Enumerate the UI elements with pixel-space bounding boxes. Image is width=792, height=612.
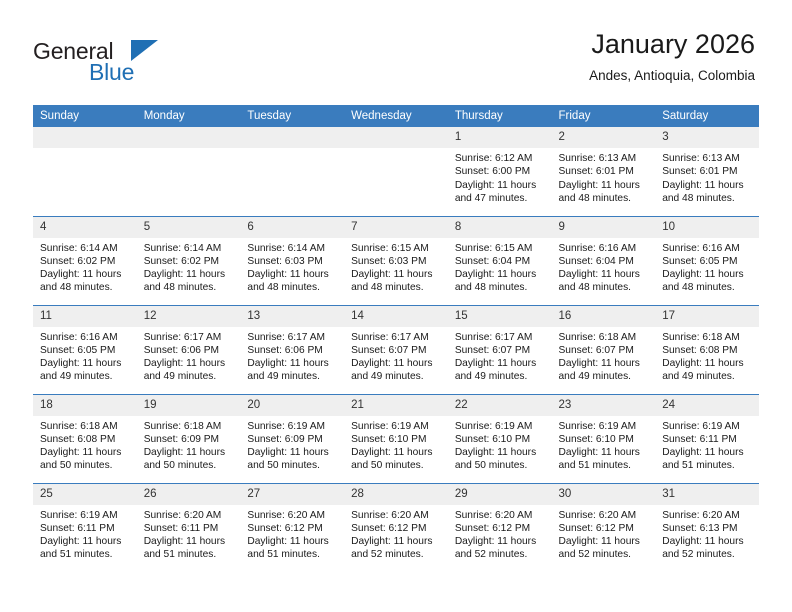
day-cell-empty [240, 127, 344, 216]
daylight-text-line1: Daylight: 11 hours [455, 535, 546, 548]
day-cell[interactable]: 16 Sunrise: 6:18 AM Sunset: 6:07 PM Dayl… [552, 305, 656, 394]
day-number: 18 [33, 395, 137, 416]
sunrise-text: Sunrise: 6:18 AM [40, 420, 131, 433]
day-details: Sunrise: 6:14 AM Sunset: 6:02 PM Dayligh… [33, 238, 137, 295]
sunset-text: Sunset: 6:11 PM [144, 522, 235, 535]
day-number: 30 [552, 484, 656, 505]
daylight-text-line2: and 52 minutes. [351, 548, 442, 561]
daylight-text-line2: and 49 minutes. [40, 370, 131, 383]
day-details: Sunrise: 6:20 AM Sunset: 6:12 PM Dayligh… [552, 505, 656, 562]
day-cell[interactable]: 2 Sunrise: 6:13 AM Sunset: 6:01 PM Dayli… [552, 127, 656, 216]
daylight-text-line2: and 49 minutes. [559, 370, 650, 383]
day-details: Sunrise: 6:13 AM Sunset: 6:01 PM Dayligh… [552, 148, 656, 205]
day-cell[interactable]: 15 Sunrise: 6:17 AM Sunset: 6:07 PM Dayl… [448, 305, 552, 394]
daylight-text-line1: Daylight: 11 hours [40, 268, 131, 281]
day-details: Sunrise: 6:19 AM Sunset: 6:10 PM Dayligh… [552, 416, 656, 473]
sunrise-text: Sunrise: 6:13 AM [662, 152, 753, 165]
sunrise-text: Sunrise: 6:19 AM [351, 420, 442, 433]
daylight-text-line2: and 48 minutes. [662, 281, 753, 294]
daylight-text-line2: and 49 minutes. [144, 370, 235, 383]
daylight-text-line2: and 48 minutes. [351, 281, 442, 294]
daylight-text-line2: and 48 minutes. [559, 192, 650, 205]
sunrise-text: Sunrise: 6:17 AM [247, 331, 338, 344]
day-number: 4 [33, 217, 137, 238]
day-cell[interactable]: 12 Sunrise: 6:17 AM Sunset: 6:06 PM Dayl… [137, 305, 241, 394]
daylight-text-line1: Daylight: 11 hours [247, 357, 338, 370]
page-title: January 2026 [589, 28, 755, 60]
daylight-text-line2: and 50 minutes. [40, 459, 131, 472]
sunset-text: Sunset: 6:12 PM [559, 522, 650, 535]
day-details: Sunrise: 6:19 AM Sunset: 6:11 PM Dayligh… [655, 416, 759, 473]
day-number: 31 [655, 484, 759, 505]
sunset-text: Sunset: 6:03 PM [351, 255, 442, 268]
day-cell-empty [137, 127, 241, 216]
week-row: 1 Sunrise: 6:12 AM Sunset: 6:00 PM Dayli… [33, 127, 759, 216]
daylight-text-line1: Daylight: 11 hours [455, 179, 546, 192]
day-number: 16 [552, 306, 656, 327]
day-cell[interactable]: 22 Sunrise: 6:19 AM Sunset: 6:10 PM Dayl… [448, 394, 552, 483]
day-cell[interactable]: 29 Sunrise: 6:20 AM Sunset: 6:12 PM Dayl… [448, 483, 552, 572]
sunrise-text: Sunrise: 6:17 AM [144, 331, 235, 344]
day-details: Sunrise: 6:17 AM Sunset: 6:07 PM Dayligh… [344, 327, 448, 384]
daylight-text-line1: Daylight: 11 hours [559, 446, 650, 459]
sunset-text: Sunset: 6:11 PM [40, 522, 131, 535]
sunrise-text: Sunrise: 6:18 AM [559, 331, 650, 344]
day-details: Sunrise: 6:15 AM Sunset: 6:03 PM Dayligh… [344, 238, 448, 295]
sunset-text: Sunset: 6:03 PM [247, 255, 338, 268]
day-details: Sunrise: 6:17 AM Sunset: 6:06 PM Dayligh… [137, 327, 241, 384]
sunrise-text: Sunrise: 6:15 AM [455, 242, 546, 255]
sunset-text: Sunset: 6:01 PM [662, 165, 753, 178]
day-details: Sunrise: 6:18 AM Sunset: 6:07 PM Dayligh… [552, 327, 656, 384]
sunrise-text: Sunrise: 6:17 AM [351, 331, 442, 344]
sunrise-text: Sunrise: 6:14 AM [144, 242, 235, 255]
sunset-text: Sunset: 6:04 PM [455, 255, 546, 268]
weekday-header-row: Sunday Monday Tuesday Wednesday Thursday… [33, 105, 759, 127]
daylight-text-line1: Daylight: 11 hours [144, 446, 235, 459]
day-number: 6 [240, 217, 344, 238]
sunrise-text: Sunrise: 6:16 AM [40, 331, 131, 344]
sunrise-text: Sunrise: 6:19 AM [662, 420, 753, 433]
sunrise-text: Sunrise: 6:19 AM [247, 420, 338, 433]
day-number: 15 [448, 306, 552, 327]
day-number: 11 [33, 306, 137, 327]
page-header: General Blue January 2026 Andes, Antioqu… [0, 0, 792, 104]
day-number: 21 [344, 395, 448, 416]
weekday-header-tuesday: Tuesday [240, 105, 344, 127]
day-cell[interactable]: 27 Sunrise: 6:20 AM Sunset: 6:12 PM Dayl… [240, 483, 344, 572]
daylight-text-line1: Daylight: 11 hours [144, 357, 235, 370]
daylight-text-line1: Daylight: 11 hours [144, 268, 235, 281]
daylight-text-line2: and 48 minutes. [40, 281, 131, 294]
day-cell[interactable]: 25 Sunrise: 6:19 AM Sunset: 6:11 PM Dayl… [33, 483, 137, 572]
day-number: 10 [655, 217, 759, 238]
logo-triangle-icon [131, 40, 158, 61]
sunrise-text: Sunrise: 6:16 AM [559, 242, 650, 255]
day-cell[interactable]: 6 Sunrise: 6:14 AM Sunset: 6:03 PM Dayli… [240, 216, 344, 305]
day-details: Sunrise: 6:14 AM Sunset: 6:02 PM Dayligh… [137, 238, 241, 295]
day-number [137, 127, 241, 148]
day-cell[interactable]: 10 Sunrise: 6:16 AM Sunset: 6:05 PM Dayl… [655, 216, 759, 305]
daylight-text-line1: Daylight: 11 hours [247, 268, 338, 281]
day-number: 24 [655, 395, 759, 416]
day-cell[interactable]: 11 Sunrise: 6:16 AM Sunset: 6:05 PM Dayl… [33, 305, 137, 394]
daylight-text-line2: and 47 minutes. [455, 192, 546, 205]
sunrise-text: Sunrise: 6:14 AM [40, 242, 131, 255]
daylight-text-line2: and 52 minutes. [662, 548, 753, 561]
daylight-text-line1: Daylight: 11 hours [559, 268, 650, 281]
daylight-text-line2: and 50 minutes. [144, 459, 235, 472]
sunset-text: Sunset: 6:08 PM [40, 433, 131, 446]
sunset-text: Sunset: 6:06 PM [144, 344, 235, 357]
day-cell[interactable]: 28 Sunrise: 6:20 AM Sunset: 6:12 PM Dayl… [344, 483, 448, 572]
day-cell[interactable]: 13 Sunrise: 6:17 AM Sunset: 6:06 PM Dayl… [240, 305, 344, 394]
sunrise-text: Sunrise: 6:14 AM [247, 242, 338, 255]
daylight-text-line2: and 49 minutes. [351, 370, 442, 383]
daylight-text-line2: and 51 minutes. [247, 548, 338, 561]
day-cell[interactable]: 30 Sunrise: 6:20 AM Sunset: 6:12 PM Dayl… [552, 483, 656, 572]
sunrise-text: Sunrise: 6:12 AM [455, 152, 546, 165]
week-row: 25 Sunrise: 6:19 AM Sunset: 6:11 PM Dayl… [33, 483, 759, 572]
sunset-text: Sunset: 6:10 PM [351, 433, 442, 446]
daylight-text-line1: Daylight: 11 hours [351, 535, 442, 548]
day-cell[interactable]: 21 Sunrise: 6:19 AM Sunset: 6:10 PM Dayl… [344, 394, 448, 483]
daylight-text-line1: Daylight: 11 hours [662, 535, 753, 548]
day-details: Sunrise: 6:18 AM Sunset: 6:09 PM Dayligh… [137, 416, 241, 473]
daylight-text-line2: and 50 minutes. [455, 459, 546, 472]
calendar-grid: Sunday Monday Tuesday Wednesday Thursday… [33, 105, 759, 572]
day-number: 12 [137, 306, 241, 327]
daylight-text-line2: and 49 minutes. [247, 370, 338, 383]
week-row: 11 Sunrise: 6:16 AM Sunset: 6:05 PM Dayl… [33, 305, 759, 394]
day-number: 5 [137, 217, 241, 238]
sunset-text: Sunset: 6:12 PM [455, 522, 546, 535]
sunset-text: Sunset: 6:11 PM [662, 433, 753, 446]
daylight-text-line1: Daylight: 11 hours [662, 268, 753, 281]
day-number: 29 [448, 484, 552, 505]
daylight-text-line2: and 51 minutes. [662, 459, 753, 472]
daylight-text-line1: Daylight: 11 hours [662, 179, 753, 192]
daylight-text-line2: and 48 minutes. [559, 281, 650, 294]
week-row: 18 Sunrise: 6:18 AM Sunset: 6:08 PM Dayl… [33, 394, 759, 483]
day-details: Sunrise: 6:12 AM Sunset: 6:00 PM Dayligh… [448, 148, 552, 205]
week-row: 4 Sunrise: 6:14 AM Sunset: 6:02 PM Dayli… [33, 216, 759, 305]
day-details: Sunrise: 6:20 AM Sunset: 6:12 PM Dayligh… [344, 505, 448, 562]
day-cell[interactable]: 3 Sunrise: 6:13 AM Sunset: 6:01 PM Dayli… [655, 127, 759, 216]
sunset-text: Sunset: 6:09 PM [247, 433, 338, 446]
day-cell[interactable]: 24 Sunrise: 6:19 AM Sunset: 6:11 PM Dayl… [655, 394, 759, 483]
sunset-text: Sunset: 6:00 PM [455, 165, 546, 178]
sunrise-text: Sunrise: 6:18 AM [662, 331, 753, 344]
day-number: 9 [552, 217, 656, 238]
day-number: 26 [137, 484, 241, 505]
day-number: 13 [240, 306, 344, 327]
daylight-text-line1: Daylight: 11 hours [40, 357, 131, 370]
daylight-text-line2: and 48 minutes. [247, 281, 338, 294]
sunrise-text: Sunrise: 6:13 AM [559, 152, 650, 165]
day-number: 25 [33, 484, 137, 505]
sunrise-text: Sunrise: 6:19 AM [40, 509, 131, 522]
daylight-text-line1: Daylight: 11 hours [559, 535, 650, 548]
day-details: Sunrise: 6:14 AM Sunset: 6:03 PM Dayligh… [240, 238, 344, 295]
general-blue-logo[interactable]: General Blue [33, 38, 253, 94]
daylight-text-line2: and 49 minutes. [662, 370, 753, 383]
sunset-text: Sunset: 6:04 PM [559, 255, 650, 268]
day-details: Sunrise: 6:20 AM Sunset: 6:12 PM Dayligh… [448, 505, 552, 562]
sunset-text: Sunset: 6:02 PM [40, 255, 131, 268]
day-cell[interactable]: 5 Sunrise: 6:14 AM Sunset: 6:02 PM Dayli… [137, 216, 241, 305]
page-subtitle: Andes, Antioquia, Colombia [589, 67, 755, 85]
day-cell[interactable]: 1 Sunrise: 6:12 AM Sunset: 6:00 PM Dayli… [448, 127, 552, 216]
sunrise-text: Sunrise: 6:19 AM [455, 420, 546, 433]
sunset-text: Sunset: 6:12 PM [351, 522, 442, 535]
daylight-text-line2: and 48 minutes. [662, 192, 753, 205]
day-number: 14 [344, 306, 448, 327]
sunrise-text: Sunrise: 6:17 AM [455, 331, 546, 344]
daylight-text-line2: and 48 minutes. [144, 281, 235, 294]
day-cell[interactable]: 18 Sunrise: 6:18 AM Sunset: 6:08 PM Dayl… [33, 394, 137, 483]
title-block: January 2026 Andes, Antioquia, Colombia [589, 28, 755, 85]
day-number: 20 [240, 395, 344, 416]
day-number [240, 127, 344, 148]
daylight-text-line2: and 51 minutes. [40, 548, 131, 561]
daylight-text-line2: and 48 minutes. [455, 281, 546, 294]
weekday-header-thursday: Thursday [448, 105, 552, 127]
sunset-text: Sunset: 6:05 PM [662, 255, 753, 268]
day-number: 8 [448, 217, 552, 238]
sunset-text: Sunset: 6:07 PM [351, 344, 442, 357]
sunrise-text: Sunrise: 6:19 AM [559, 420, 650, 433]
sunrise-text: Sunrise: 6:20 AM [559, 509, 650, 522]
daylight-text-line1: Daylight: 11 hours [351, 268, 442, 281]
day-details: Sunrise: 6:16 AM Sunset: 6:05 PM Dayligh… [33, 327, 137, 384]
day-number: 22 [448, 395, 552, 416]
daylight-text-line2: and 51 minutes. [559, 459, 650, 472]
day-cell[interactable]: 26 Sunrise: 6:20 AM Sunset: 6:11 PM Dayl… [137, 483, 241, 572]
calendar-page: General Blue January 2026 Andes, Antioqu… [0, 0, 792, 612]
daylight-text-line1: Daylight: 11 hours [662, 357, 753, 370]
sunset-text: Sunset: 6:12 PM [247, 522, 338, 535]
sunset-text: Sunset: 6:09 PM [144, 433, 235, 446]
weekday-header-wednesday: Wednesday [344, 105, 448, 127]
weekday-header-sunday: Sunday [33, 105, 137, 127]
day-details: Sunrise: 6:15 AM Sunset: 6:04 PM Dayligh… [448, 238, 552, 295]
sunrise-text: Sunrise: 6:20 AM [662, 509, 753, 522]
day-cell[interactable]: 17 Sunrise: 6:18 AM Sunset: 6:08 PM Dayl… [655, 305, 759, 394]
day-details: Sunrise: 6:16 AM Sunset: 6:05 PM Dayligh… [655, 238, 759, 295]
daylight-text-line1: Daylight: 11 hours [351, 446, 442, 459]
sunrise-text: Sunrise: 6:20 AM [351, 509, 442, 522]
day-details: Sunrise: 6:20 AM Sunset: 6:13 PM Dayligh… [655, 505, 759, 562]
day-details: Sunrise: 6:16 AM Sunset: 6:04 PM Dayligh… [552, 238, 656, 295]
daylight-text-line2: and 49 minutes. [455, 370, 546, 383]
daylight-text-line1: Daylight: 11 hours [351, 357, 442, 370]
day-number [344, 127, 448, 148]
day-details: Sunrise: 6:13 AM Sunset: 6:01 PM Dayligh… [655, 148, 759, 205]
day-details: Sunrise: 6:17 AM Sunset: 6:06 PM Dayligh… [240, 327, 344, 384]
day-details: Sunrise: 6:18 AM Sunset: 6:08 PM Dayligh… [655, 327, 759, 384]
day-cell-empty [344, 127, 448, 216]
daylight-text-line2: and 52 minutes. [455, 548, 546, 561]
day-number [33, 127, 137, 148]
sunset-text: Sunset: 6:10 PM [455, 433, 546, 446]
sunset-text: Sunset: 6:13 PM [662, 522, 753, 535]
daylight-text-line1: Daylight: 11 hours [144, 535, 235, 548]
sunrise-text: Sunrise: 6:15 AM [351, 242, 442, 255]
day-cell[interactable]: 31 Sunrise: 6:20 AM Sunset: 6:13 PM Dayl… [655, 483, 759, 572]
daylight-text-line1: Daylight: 11 hours [455, 446, 546, 459]
daylight-text-line1: Daylight: 11 hours [455, 268, 546, 281]
day-cell[interactable]: 7 Sunrise: 6:15 AM Sunset: 6:03 PM Dayli… [344, 216, 448, 305]
day-number: 19 [137, 395, 241, 416]
day-cell[interactable]: 23 Sunrise: 6:19 AM Sunset: 6:10 PM Dayl… [552, 394, 656, 483]
daylight-text-line2: and 50 minutes. [247, 459, 338, 472]
day-cell-empty [33, 127, 137, 216]
daylight-text-line1: Daylight: 11 hours [247, 446, 338, 459]
calendar-body: 1 Sunrise: 6:12 AM Sunset: 6:00 PM Dayli… [33, 127, 759, 572]
sunset-text: Sunset: 6:06 PM [247, 344, 338, 357]
sunset-text: Sunset: 6:05 PM [40, 344, 131, 357]
day-number: 17 [655, 306, 759, 327]
sunset-text: Sunset: 6:01 PM [559, 165, 650, 178]
daylight-text-line1: Daylight: 11 hours [40, 446, 131, 459]
day-details: Sunrise: 6:18 AM Sunset: 6:08 PM Dayligh… [33, 416, 137, 473]
day-number: 28 [344, 484, 448, 505]
daylight-text-line2: and 50 minutes. [351, 459, 442, 472]
day-number: 23 [552, 395, 656, 416]
daylight-text-line1: Daylight: 11 hours [559, 357, 650, 370]
day-number: 1 [448, 127, 552, 148]
day-cell[interactable]: 8 Sunrise: 6:15 AM Sunset: 6:04 PM Dayli… [448, 216, 552, 305]
daylight-text-line1: Daylight: 11 hours [455, 357, 546, 370]
sunset-text: Sunset: 6:07 PM [559, 344, 650, 357]
day-details: Sunrise: 6:17 AM Sunset: 6:07 PM Dayligh… [448, 327, 552, 384]
daylight-text-line1: Daylight: 11 hours [662, 446, 753, 459]
day-cell[interactable]: 9 Sunrise: 6:16 AM Sunset: 6:04 PM Dayli… [552, 216, 656, 305]
sunrise-text: Sunrise: 6:18 AM [144, 420, 235, 433]
sunrise-text: Sunrise: 6:20 AM [144, 509, 235, 522]
sunset-text: Sunset: 6:10 PM [559, 433, 650, 446]
sunset-text: Sunset: 6:07 PM [455, 344, 546, 357]
daylight-text-line2: and 52 minutes. [559, 548, 650, 561]
day-number: 2 [552, 127, 656, 148]
day-details: Sunrise: 6:19 AM Sunset: 6:10 PM Dayligh… [344, 416, 448, 473]
daylight-text-line1: Daylight: 11 hours [247, 535, 338, 548]
day-number: 7 [344, 217, 448, 238]
day-number: 27 [240, 484, 344, 505]
day-details: Sunrise: 6:19 AM Sunset: 6:10 PM Dayligh… [448, 416, 552, 473]
day-details: Sunrise: 6:19 AM Sunset: 6:11 PM Dayligh… [33, 505, 137, 562]
sunrise-text: Sunrise: 6:16 AM [662, 242, 753, 255]
weekday-header-saturday: Saturday [655, 105, 759, 127]
sunset-text: Sunset: 6:02 PM [144, 255, 235, 268]
day-cell[interactable]: 14 Sunrise: 6:17 AM Sunset: 6:07 PM Dayl… [344, 305, 448, 394]
day-cell[interactable]: 19 Sunrise: 6:18 AM Sunset: 6:09 PM Dayl… [137, 394, 241, 483]
daylight-text-line1: Daylight: 11 hours [559, 179, 650, 192]
day-details: Sunrise: 6:20 AM Sunset: 6:11 PM Dayligh… [137, 505, 241, 562]
sunrise-text: Sunrise: 6:20 AM [247, 509, 338, 522]
weekday-header-friday: Friday [552, 105, 656, 127]
sunset-text: Sunset: 6:08 PM [662, 344, 753, 357]
sunrise-text: Sunrise: 6:20 AM [455, 509, 546, 522]
day-details: Sunrise: 6:19 AM Sunset: 6:09 PM Dayligh… [240, 416, 344, 473]
day-number: 3 [655, 127, 759, 148]
day-cell[interactable]: 4 Sunrise: 6:14 AM Sunset: 6:02 PM Dayli… [33, 216, 137, 305]
day-cell[interactable]: 20 Sunrise: 6:19 AM Sunset: 6:09 PM Dayl… [240, 394, 344, 483]
logo-text-blue: Blue [89, 59, 134, 86]
daylight-text-line1: Daylight: 11 hours [40, 535, 131, 548]
day-details: Sunrise: 6:20 AM Sunset: 6:12 PM Dayligh… [240, 505, 344, 562]
weekday-header-monday: Monday [137, 105, 241, 127]
daylight-text-line2: and 51 minutes. [144, 548, 235, 561]
